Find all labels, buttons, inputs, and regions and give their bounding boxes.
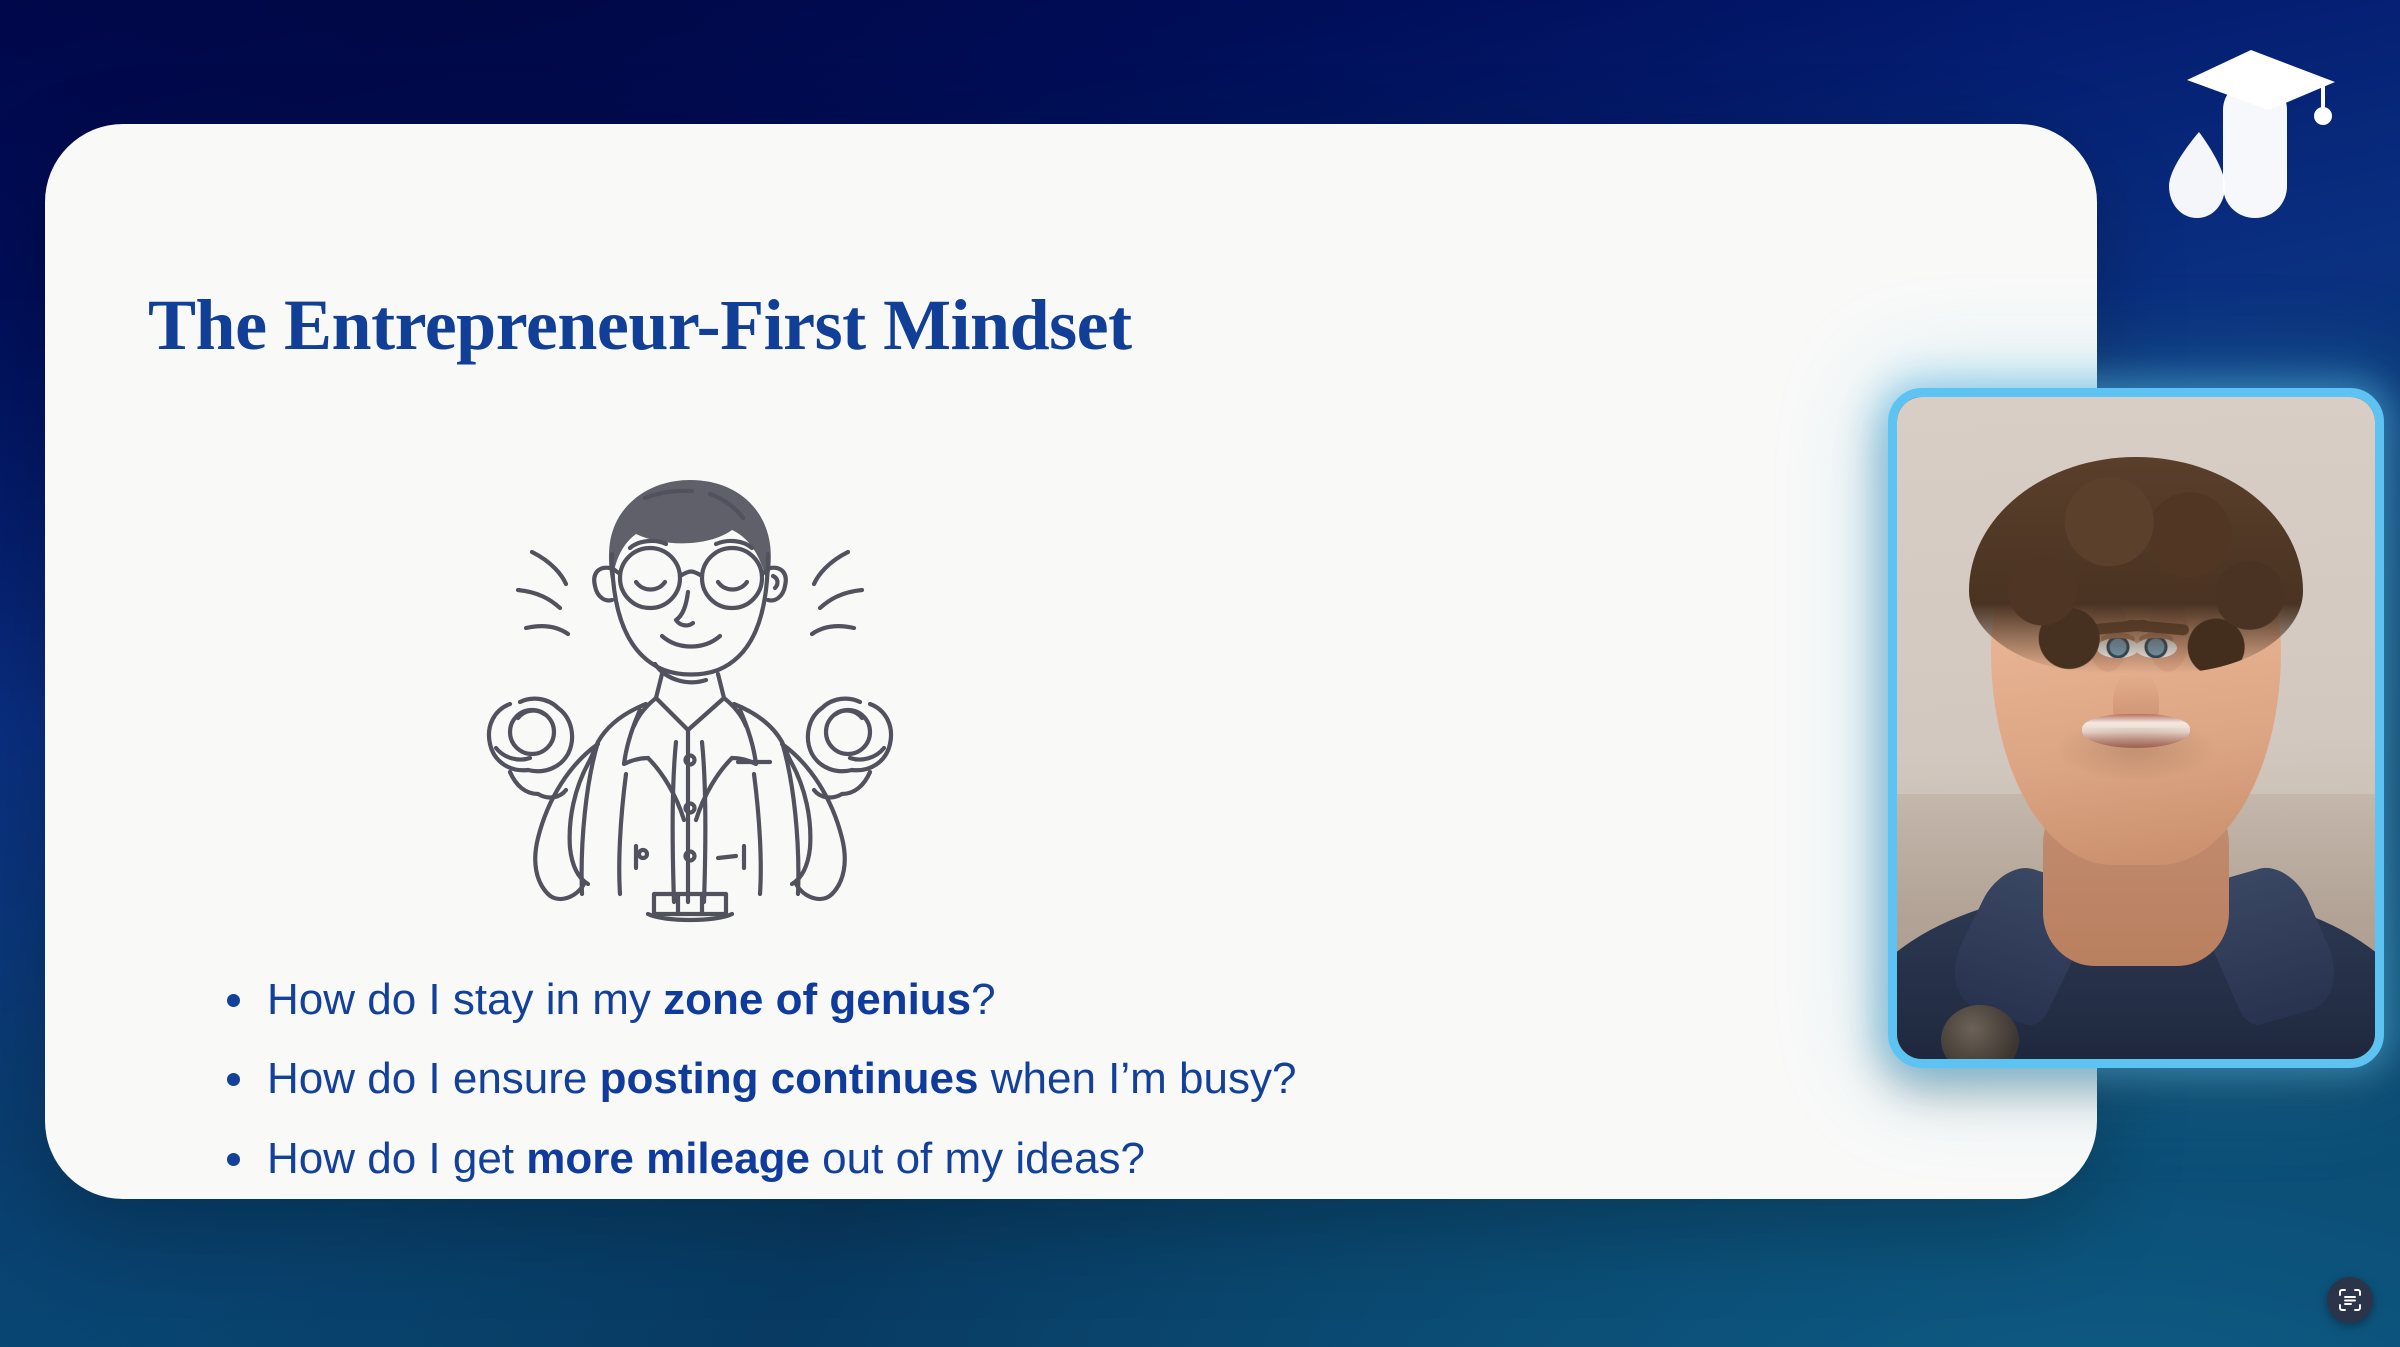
list-item: How do I stay in my zone of genius?	[215, 972, 1715, 1027]
question-bullet-list: How do I stay in my zone of genius? How …	[215, 972, 1715, 1199]
webcam-feed	[1897, 397, 2375, 1059]
bullet-text-emphasis: posting continues	[600, 1054, 979, 1103]
presenter-chin-shadow	[2056, 728, 2216, 782]
scan-text-icon	[2337, 1287, 2363, 1313]
presenter-hair	[1969, 457, 2303, 673]
bullet-text-prefix: How do I get	[267, 1134, 526, 1183]
bullet-text-suffix: ?	[971, 975, 995, 1024]
graduation-cap-droplets-logo	[2163, 40, 2338, 230]
slide-card: The Entrepreneur-First Mindset	[45, 124, 2097, 1199]
presentation-stage: The Entrepreneur-First Mindset	[0, 0, 2400, 1347]
bullet-text-emphasis: zone of genius	[663, 975, 971, 1024]
webcam-presenter-video[interactable]	[1888, 388, 2384, 1068]
bullet-text-prefix: How do I stay in my	[267, 975, 663, 1024]
meditating-man-illustration	[440, 442, 940, 932]
bullet-text-prefix: How do I ensure	[267, 1054, 600, 1103]
list-item: How do I ensure posting continues when I…	[215, 1051, 1715, 1106]
list-item: How do I get more mileage out of my idea…	[215, 1131, 1715, 1186]
page-title: The Entrepreneur-First Mindset	[148, 284, 1132, 367]
scan-text-button[interactable]	[2327, 1277, 2373, 1323]
bullet-text-suffix: when I’m busy?	[979, 1054, 1297, 1103]
bullet-text-emphasis: more mileage	[526, 1134, 810, 1183]
bullet-text-suffix: out of my ideas?	[810, 1134, 1145, 1183]
